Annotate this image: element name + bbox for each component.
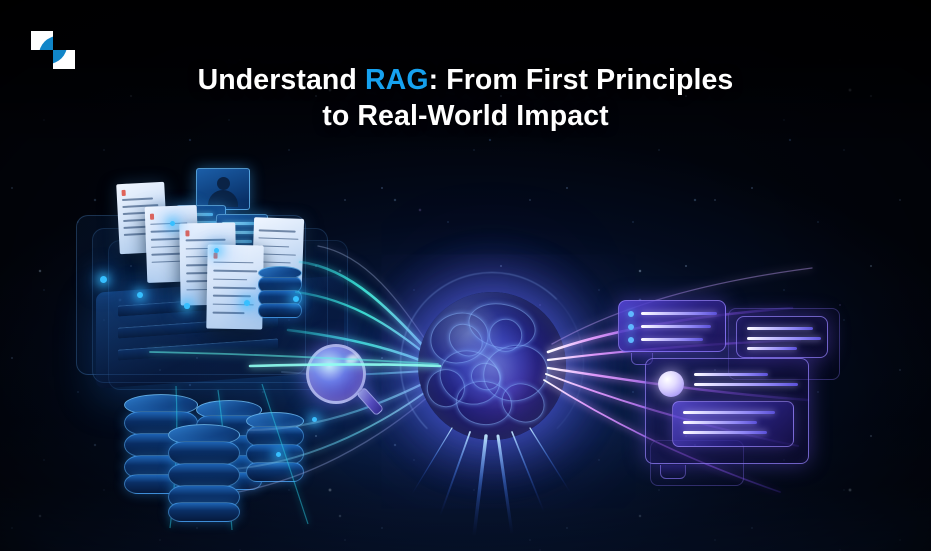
logo-quarter-circle <box>39 36 53 50</box>
answer-panel-primary <box>645 358 809 464</box>
title-line-2: to Real-World Impact <box>322 100 609 132</box>
answer-inner-card <box>672 401 794 447</box>
avatar <box>658 371 684 397</box>
title-slide: Understand RAG: From First Principles to… <box>0 0 931 551</box>
title-suffix: : From First Principles <box>429 64 734 96</box>
page-title: Understand RAG: From First Principles to… <box>0 62 931 134</box>
title-prefix: Understand <box>198 64 365 96</box>
title-accent-rag: RAG <box>365 64 429 96</box>
logo-square-top-left <box>31 31 53 50</box>
database-cylinder-front <box>168 424 240 516</box>
answer-panel-small <box>736 316 828 358</box>
answer-panel-bulleted <box>618 300 726 352</box>
